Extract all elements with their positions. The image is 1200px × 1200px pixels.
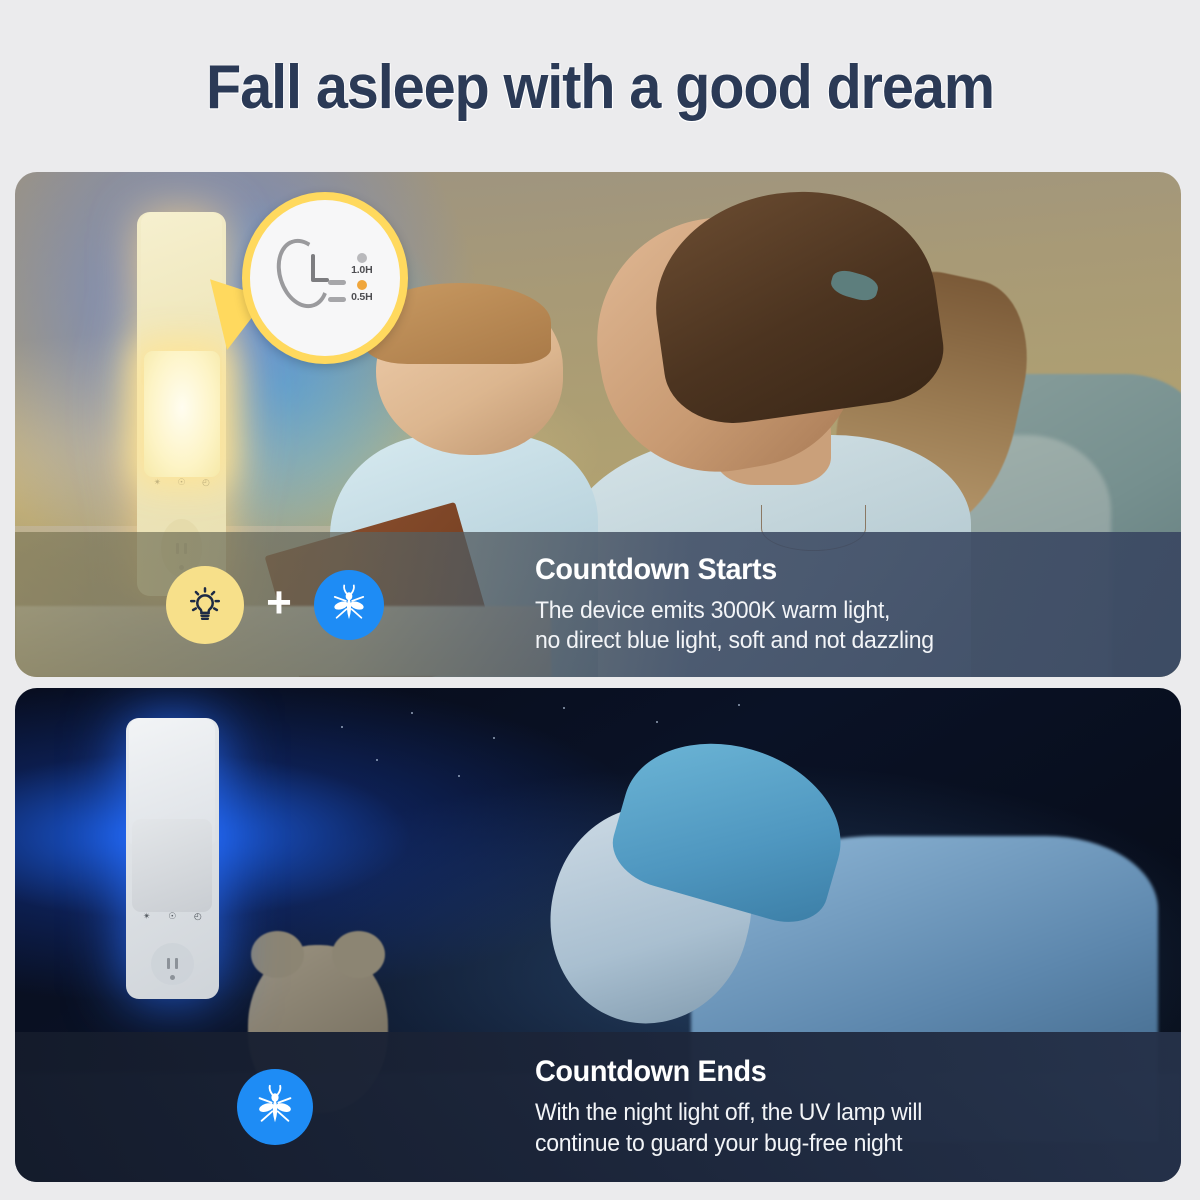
- timer-label-1h: 1.0H: [351, 265, 372, 276]
- plus-icon: +: [266, 581, 292, 625]
- bulb-icon: ☉: [178, 477, 186, 488]
- mosquito-icon: [237, 1069, 313, 1145]
- device-button-row: ✴ ☉ ◴: [145, 466, 218, 501]
- night-light-device-uv: ✴ ☉ ◴: [126, 718, 219, 1000]
- timer-options: 1.0H 0.5H: [351, 253, 372, 303]
- timer-option-05h[interactable]: 0.5H: [351, 280, 372, 303]
- timer-dot-active: [357, 280, 367, 290]
- page-title: Fall asleep with a good dream: [42, 52, 1158, 123]
- callout-bubble: 1.0H 0.5H: [242, 192, 408, 364]
- device-light-panel: [144, 351, 220, 478]
- caption-text-night: Countdown Ends With the night light off,…: [535, 1055, 1181, 1159]
- panel-countdown-starts: ✴ ☉ ◴: [15, 172, 1181, 677]
- caption-line-2: no direct blue light, soft and not dazzl…: [535, 626, 1117, 656]
- device-light-panel: [132, 819, 212, 912]
- timer-label-05h: 0.5H: [351, 292, 372, 303]
- timer-icon: ◴: [202, 477, 210, 488]
- device-passthrough-outlet: [151, 943, 194, 985]
- bulb-icon: [166, 566, 244, 644]
- device-button-row: ✴ ☉ ◴: [134, 903, 210, 928]
- timer-callout: 1.0H 0.5H: [242, 192, 408, 364]
- caption-title: Countdown Starts: [535, 553, 1117, 587]
- mosquito-icon: ✴: [143, 911, 151, 922]
- mosquito-icon: [314, 570, 384, 640]
- timer-option-1h[interactable]: 1.0H: [351, 253, 372, 276]
- caption-icon-group-night: [15, 1069, 535, 1145]
- outlet-ground: [170, 975, 175, 980]
- caption-line-1: With the night light off, the UV lamp wi…: [535, 1098, 1117, 1128]
- caption-title: Countdown Ends: [535, 1055, 1117, 1089]
- timer-icon: ◴: [194, 911, 202, 922]
- mosquito-icon: ✴: [154, 477, 162, 488]
- caption-line-2: continue to guard your bug-free night: [535, 1129, 1117, 1159]
- caption-bar-countdown-ends: Countdown Ends With the night light off,…: [15, 1032, 1181, 1182]
- caption-icon-group-warm: +: [15, 566, 535, 644]
- outlet-slot-left: [167, 958, 170, 969]
- panel-countdown-ends: ✴ ☉ ◴: [15, 688, 1181, 1182]
- caption-bar-countdown-starts: +: [15, 532, 1181, 677]
- outlet-slot-right: [175, 958, 178, 969]
- caption-text-warm: Countdown Starts The device emits 3000K …: [535, 553, 1181, 657]
- clock-icon: [278, 238, 344, 319]
- caption-line-1: The device emits 3000K warm light,: [535, 596, 1117, 626]
- timer-dot-inactive: [357, 253, 367, 263]
- bulb-icon: ☉: [168, 911, 176, 922]
- mother-hair: [642, 174, 950, 433]
